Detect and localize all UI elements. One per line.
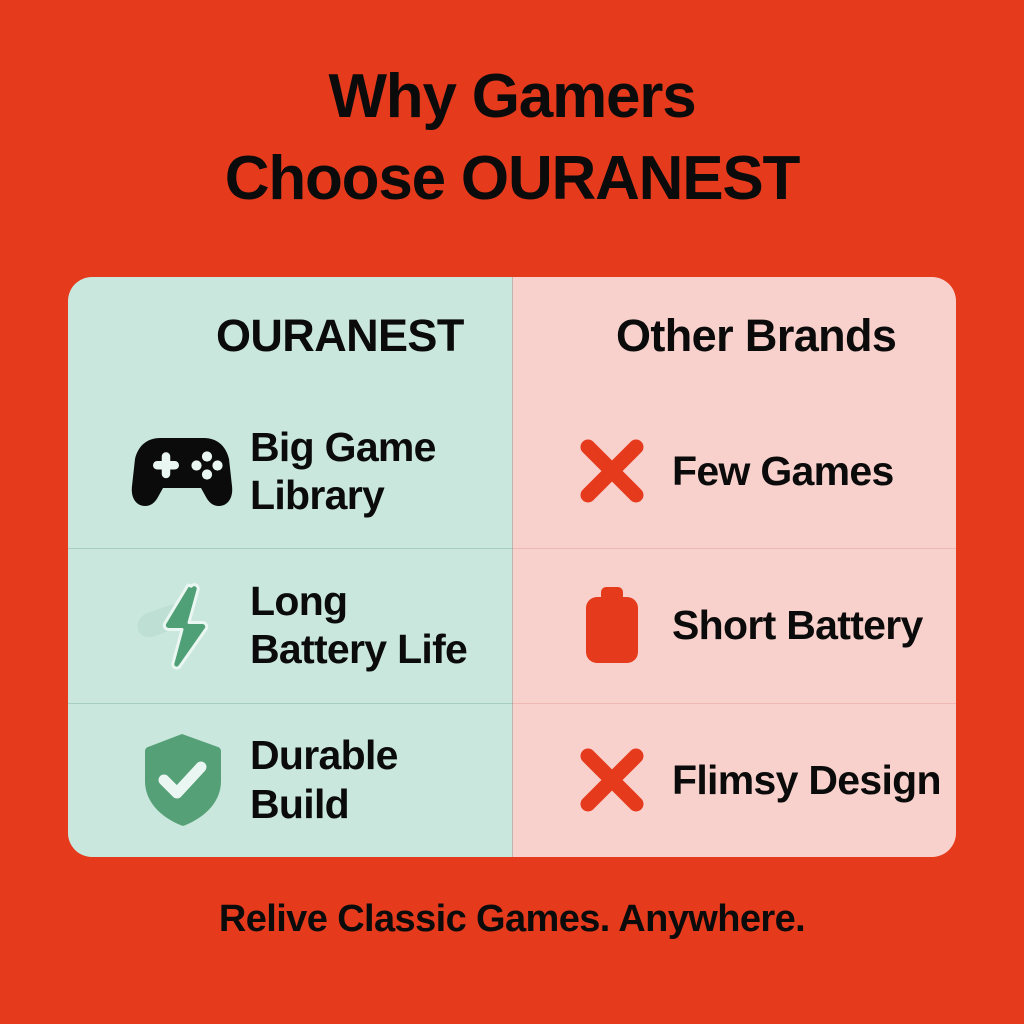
feature-label: Long Battery Life bbox=[250, 577, 467, 674]
column-divider bbox=[512, 277, 513, 857]
header-cell-other-brands: Other Brands bbox=[512, 277, 956, 394]
page-title: Why Gamers Choose OURANEST bbox=[0, 56, 1024, 220]
column-header-ouranest: OURANEST bbox=[128, 310, 464, 362]
feature-label: Durable Build bbox=[250, 731, 398, 828]
gamepad-icon bbox=[128, 417, 236, 525]
feature-label: Short Battery bbox=[672, 601, 923, 649]
cross-icon bbox=[564, 732, 660, 828]
comparison-table: OURANEST Other Brands bbox=[68, 277, 956, 857]
feature-label: Big Game Library bbox=[250, 423, 436, 520]
shield-check-icon bbox=[128, 726, 236, 834]
lightning-bolt-icon bbox=[128, 571, 236, 679]
cross-icon bbox=[564, 423, 660, 519]
feature-cell-long-battery-life: Long Battery Life bbox=[68, 548, 512, 702]
footer-tagline: Relive Classic Games. Anywhere. bbox=[0, 898, 1024, 941]
title-line-1: Why Gamers bbox=[40, 56, 984, 138]
feature-label: Flimsy Design bbox=[672, 756, 941, 804]
feature-cell-short-battery: Short Battery bbox=[512, 548, 956, 702]
feature-cell-big-game-library: Big Game Library bbox=[68, 394, 512, 548]
feature-cell-few-games: Few Games bbox=[512, 394, 956, 548]
feature-cell-flimsy-design: Flimsy Design bbox=[512, 703, 956, 857]
header-cell-ouranest: OURANEST bbox=[68, 277, 512, 394]
column-header-other-brands: Other Brands bbox=[564, 310, 896, 362]
feature-cell-durable-build: Durable Build bbox=[68, 703, 512, 857]
feature-label: Few Games bbox=[672, 447, 894, 495]
title-line-2: Choose OURANEST bbox=[40, 138, 984, 220]
tagline-text: Relive Classic Games. Anywhere. bbox=[219, 898, 805, 940]
comparison-poster: Why Gamers Choose OURANEST OURANEST Othe… bbox=[0, 0, 1024, 1024]
battery-icon bbox=[564, 577, 660, 673]
